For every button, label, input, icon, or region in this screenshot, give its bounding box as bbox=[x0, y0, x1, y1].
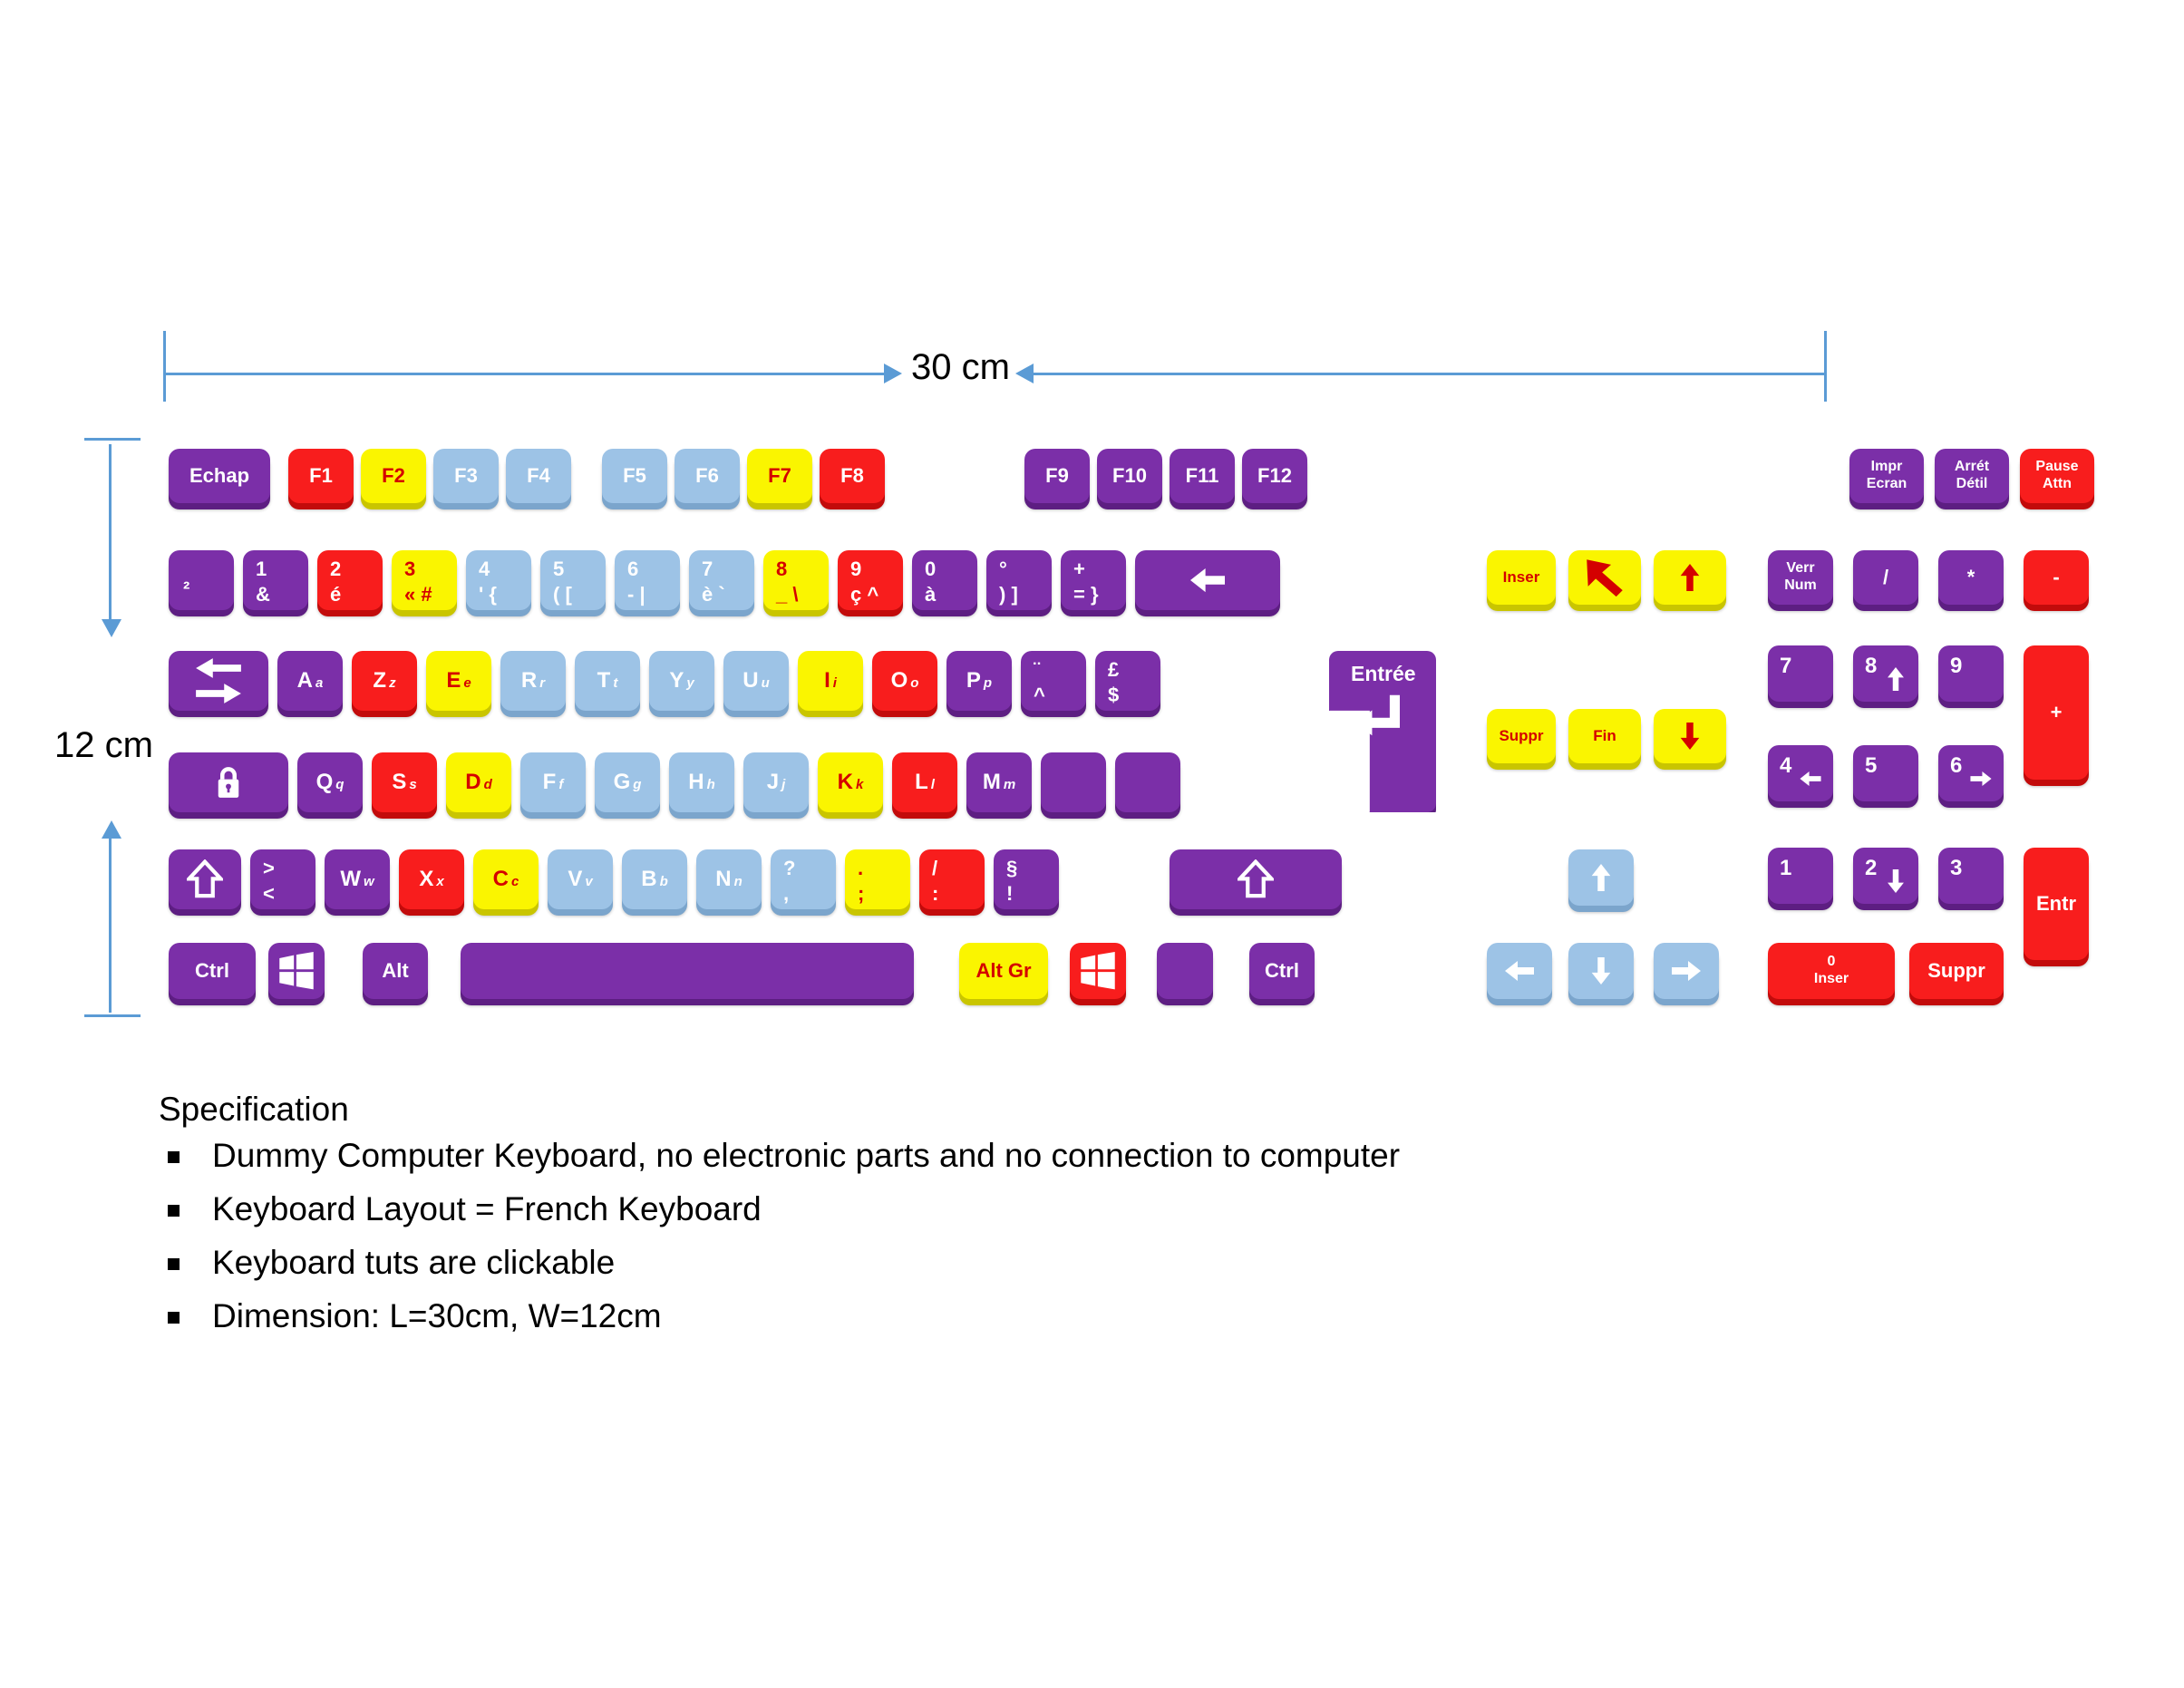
key-numpad-delete[interactable]: Suppr bbox=[1909, 943, 2004, 999]
list-item: Dummy Computer Keyboard, no electronic p… bbox=[159, 1137, 1700, 1175]
key-key-k[interactable]: Kk bbox=[818, 752, 883, 812]
slide-canvas: 30 cm 12 cm EchapF1F2F3F4F5F6F7F8F9F10F1… bbox=[0, 0, 2184, 1688]
key-f5[interactable]: F5 bbox=[602, 449, 667, 503]
key-key-6[interactable]: 6- | bbox=[615, 550, 680, 610]
key-upper-glyph: + bbox=[1073, 558, 1085, 579]
key-key-f[interactable]: Ff bbox=[520, 752, 586, 812]
key-uppercase: Q bbox=[316, 771, 334, 793]
key-numpad-4[interactable]: 4 bbox=[1768, 745, 1833, 801]
list-item: Dimension: L=30cm, W=12cm bbox=[159, 1297, 1700, 1335]
key-left-alt[interactable]: Alt bbox=[363, 943, 428, 999]
key-uppercase: R bbox=[521, 669, 537, 692]
key-uppercase: M bbox=[983, 771, 1001, 793]
key-uppercase: Y bbox=[669, 669, 684, 692]
spec-text: Keyboard Layout = French Keyboard bbox=[212, 1190, 762, 1228]
key-uppercase: K bbox=[838, 771, 853, 793]
arrow-down-icon bbox=[1676, 717, 1704, 755]
key-numpad-7[interactable]: 7 bbox=[1768, 645, 1833, 702]
key-label: F8 bbox=[840, 465, 864, 486]
key-lower-glyph: à bbox=[925, 584, 936, 605]
key-key-r[interactable]: Rr bbox=[500, 651, 566, 711]
key-right-ctrl[interactable]: Ctrl bbox=[1249, 943, 1315, 999]
key-lowercase: k bbox=[856, 778, 863, 792]
key-page-up[interactable] bbox=[1654, 550, 1726, 605]
key-key-percent[interactable] bbox=[1041, 752, 1106, 812]
key-key-2[interactable]: 2é bbox=[317, 550, 383, 610]
key-lower-glyph: « # bbox=[404, 584, 432, 605]
key-label: Ctrl bbox=[1265, 960, 1299, 981]
key-lower-glyph: ( [ bbox=[553, 584, 572, 605]
key-lower-glyph: ^ bbox=[1034, 684, 1045, 705]
key-digit: 6 bbox=[1950, 754, 1962, 777]
key-label-line: Pause bbox=[2035, 460, 2078, 475]
key-label-line: Num bbox=[1784, 578, 1817, 594]
key-lower-glyph: - | bbox=[627, 584, 645, 605]
key-upper-glyph: 7 bbox=[702, 558, 713, 579]
arrow-left-icon bbox=[1170, 563, 1246, 597]
key-digit: 9 bbox=[1950, 655, 1962, 677]
arrow-right-icon bbox=[1969, 763, 1993, 794]
arrow-down-icon bbox=[1587, 952, 1615, 990]
key-right-windows[interactable] bbox=[1070, 943, 1126, 999]
key-print-screen[interactable]: ImprEcran bbox=[1849, 449, 1924, 503]
key-f12[interactable]: F12 bbox=[1242, 449, 1307, 503]
key-key-v[interactable]: Vv bbox=[548, 849, 613, 909]
key-label: F5 bbox=[623, 465, 646, 486]
key-numpad-2[interactable]: 2 bbox=[1853, 848, 1918, 904]
arrow-up-icon bbox=[1676, 558, 1704, 597]
key-lowercase: x bbox=[436, 875, 443, 889]
key-upper-glyph: 9 bbox=[850, 558, 861, 579]
key-upper-glyph: > bbox=[263, 858, 275, 878]
key-numpad-3[interactable]: 3 bbox=[1938, 848, 2004, 904]
key-upper-glyph: 5 bbox=[553, 558, 564, 579]
key-numpad-8[interactable]: 8 bbox=[1853, 645, 1918, 702]
key-numpad-6[interactable]: 6 bbox=[1938, 745, 2004, 801]
key-lower-glyph: , bbox=[783, 883, 789, 904]
key-lowercase: d bbox=[484, 778, 492, 792]
specification-block: Specification Dummy Computer Keyboard, n… bbox=[159, 1091, 1700, 1351]
key-lowercase: n bbox=[734, 875, 743, 889]
key-key-dollar[interactable]: £$ bbox=[1095, 651, 1160, 711]
key-key-b[interactable]: Bb bbox=[622, 849, 687, 909]
key-uppercase: X bbox=[419, 868, 433, 890]
key-backspace[interactable] bbox=[1135, 550, 1280, 610]
key-numpad-enter[interactable]: Entr bbox=[2024, 848, 2089, 960]
key-delete[interactable]: Suppr bbox=[1487, 709, 1556, 763]
key-uppercase: J bbox=[767, 771, 779, 793]
key-insert[interactable]: Inser bbox=[1487, 550, 1556, 605]
key-key-l[interactable]: Ll bbox=[892, 752, 957, 812]
key-key-degree[interactable]: °) ] bbox=[986, 550, 1052, 610]
key-escape[interactable]: Echap bbox=[169, 449, 270, 503]
key-numpad-plus[interactable]: + bbox=[2024, 645, 2089, 780]
key-key-x[interactable]: Xx bbox=[399, 849, 464, 909]
key-key-n[interactable]: Nn bbox=[696, 849, 762, 909]
key-label: F10 bbox=[1112, 465, 1147, 486]
key-f4[interactable]: F4 bbox=[506, 449, 571, 503]
key-label: Fin bbox=[1593, 728, 1616, 744]
key-lower-glyph: _ \ bbox=[776, 584, 798, 605]
key-label-line: Inser bbox=[1814, 972, 1849, 987]
key-uppercase: S bbox=[392, 771, 406, 793]
key-uppercase: N bbox=[715, 868, 731, 890]
key-lowercase: a bbox=[315, 676, 323, 691]
key-label: / bbox=[1883, 567, 1888, 587]
key-uppercase: E bbox=[446, 669, 461, 692]
key-key-h[interactable]: Hh bbox=[669, 752, 734, 812]
key-superscript-two[interactable]: ² bbox=[169, 550, 234, 610]
key-menu[interactable] bbox=[1157, 943, 1213, 999]
key-key-circumflex[interactable]: ¨^ bbox=[1021, 651, 1086, 711]
key-uppercase: C bbox=[493, 868, 509, 890]
key-digit: 8 bbox=[1865, 655, 1877, 677]
key-key-i[interactable]: Ii bbox=[798, 651, 863, 711]
key-lower-glyph: $ bbox=[1108, 684, 1119, 705]
key-upper-glyph: ¨ bbox=[1034, 659, 1040, 680]
key-upper-glyph: 2 bbox=[330, 558, 341, 579]
key-lower-glyph: ; bbox=[858, 883, 864, 904]
key-key-p[interactable]: Pp bbox=[946, 651, 1012, 711]
key-upper-glyph: 8 bbox=[776, 558, 787, 579]
key-num-lock[interactable]: VerrNum bbox=[1768, 550, 1833, 605]
key-digit: 2 bbox=[1865, 857, 1877, 879]
spec-text: Dummy Computer Keyboard, no electronic p… bbox=[212, 1137, 1400, 1175]
key-numpad-minus[interactable]: - bbox=[2024, 550, 2089, 605]
key-key-angle[interactable]: >< bbox=[250, 849, 315, 909]
key-lowercase: b bbox=[660, 875, 668, 889]
key-label: - bbox=[2053, 567, 2059, 587]
key-f6[interactable]: F6 bbox=[675, 449, 740, 503]
bullet-icon bbox=[168, 1258, 180, 1270]
key-lower-glyph: ) ] bbox=[999, 584, 1018, 605]
key-label: Alt Gr bbox=[976, 960, 1031, 981]
key-numpad-divide[interactable]: / bbox=[1853, 550, 1918, 605]
key-lower-glyph: é bbox=[330, 584, 341, 605]
key-f7[interactable]: F7 bbox=[747, 449, 812, 503]
key-label: F12 bbox=[1257, 465, 1292, 486]
specification-list: Dummy Computer Keyboard, no electronic p… bbox=[159, 1137, 1700, 1335]
key-uppercase: I bbox=[824, 669, 830, 692]
arrow-down-icon bbox=[1884, 866, 1907, 897]
key-lower-glyph: = } bbox=[1073, 584, 1099, 605]
key-upper-glyph: § bbox=[1006, 858, 1017, 878]
key-arrow-left[interactable] bbox=[1487, 943, 1552, 999]
key-label: Inser bbox=[1503, 569, 1540, 586]
arrow-right-icon bbox=[1664, 956, 1709, 985]
bullet-icon bbox=[168, 1151, 180, 1163]
key-label: Echap bbox=[189, 465, 249, 486]
key-uppercase: U bbox=[743, 669, 758, 692]
key-uppercase: D bbox=[465, 771, 480, 793]
key-left-windows[interactable] bbox=[268, 943, 325, 999]
key-key-c[interactable]: Cc bbox=[473, 849, 539, 909]
key-lower-glyph: & bbox=[256, 584, 270, 605]
key-lowercase: r bbox=[539, 676, 545, 691]
key-label: Ctrl bbox=[195, 960, 229, 981]
key-label: F7 bbox=[768, 465, 791, 486]
bullet-icon bbox=[168, 1205, 180, 1217]
key-key-8[interactable]: 8_ \ bbox=[763, 550, 829, 610]
key-label-line: Verr bbox=[1786, 561, 1814, 577]
key-lowercase: q bbox=[335, 778, 344, 792]
key-arrow-up[interactable] bbox=[1568, 849, 1634, 906]
key-upper-glyph: 6 bbox=[627, 558, 638, 579]
windows-icon bbox=[1079, 952, 1117, 990]
key-label: F11 bbox=[1186, 465, 1219, 486]
key-uppercase: O bbox=[891, 669, 908, 692]
key-upper-glyph: ? bbox=[783, 858, 795, 878]
enter-label: Entrée bbox=[1351, 662, 1416, 686]
key-label-line: Ecran bbox=[1867, 477, 1907, 492]
key-uppercase: B bbox=[641, 868, 656, 890]
key-key-semicolon[interactable]: .; bbox=[845, 849, 910, 909]
shift-up-icon bbox=[1238, 859, 1274, 899]
key-upper-glyph: . bbox=[858, 858, 863, 878]
key-label: F4 bbox=[527, 465, 550, 486]
key-key-micro[interactable] bbox=[1115, 752, 1180, 812]
list-item: Keyboard tuts are clickable bbox=[159, 1244, 1700, 1282]
key-label: + bbox=[2051, 702, 2063, 723]
key-upper-glyph: £ bbox=[1108, 659, 1119, 680]
key-caps-lock[interactable] bbox=[169, 752, 288, 812]
key-key-7[interactable]: 7è ` bbox=[689, 550, 754, 610]
key-label-line: 0 bbox=[1828, 955, 1836, 970]
key-lowercase: u bbox=[762, 676, 770, 691]
key-f9[interactable]: F9 bbox=[1024, 449, 1090, 503]
key-uppercase: G bbox=[614, 771, 631, 793]
key-upper-glyph: ° bbox=[999, 558, 1007, 579]
key-digit: 1 bbox=[1780, 857, 1791, 879]
arrow-diagonal-icon bbox=[1583, 556, 1626, 599]
key-label: Suppr bbox=[1499, 728, 1543, 744]
key-lower-glyph: ' { bbox=[479, 584, 497, 605]
key-lower-glyph: è ` bbox=[702, 584, 725, 605]
key-lowercase: f bbox=[558, 778, 563, 792]
key-label-line: Arrét bbox=[1955, 460, 1989, 475]
key-uppercase: A bbox=[297, 669, 313, 692]
key-key-1[interactable]: 1& bbox=[243, 550, 308, 610]
key-label: * bbox=[1967, 567, 1975, 587]
key-lowercase: o bbox=[910, 676, 918, 691]
key-uppercase: L bbox=[915, 771, 928, 793]
key-key-o[interactable]: Oo bbox=[872, 651, 937, 711]
key-key-q[interactable]: Qq bbox=[297, 752, 363, 812]
key-f3[interactable]: F3 bbox=[433, 449, 499, 503]
key-uppercase: T bbox=[597, 669, 611, 692]
key-digit: 3 bbox=[1950, 857, 1962, 879]
key-key-5[interactable]: 5( [ bbox=[540, 550, 606, 610]
keyboard[interactable]: EchapF1F2F3F4F5F6F7F8F9F10F11F12ImprEcra… bbox=[0, 0, 2184, 1688]
key-key-9[interactable]: 9ç ^ bbox=[838, 550, 903, 610]
key-lower-glyph: : bbox=[932, 883, 938, 904]
enter-arrow-icon bbox=[1349, 693, 1405, 738]
key-digit: 5 bbox=[1865, 754, 1877, 777]
key-key-3[interactable]: 3« # bbox=[392, 550, 457, 610]
key-lowercase: i bbox=[833, 676, 837, 691]
key-lower-glyph: ç ^ bbox=[850, 584, 878, 605]
key-key-exclaim[interactable]: §! bbox=[994, 849, 1059, 909]
key-lowercase: l bbox=[931, 778, 935, 792]
key-key-z[interactable]: Zz bbox=[352, 651, 417, 711]
shift-up-icon bbox=[187, 859, 223, 899]
bullet-icon bbox=[168, 1312, 180, 1324]
key-key-4[interactable]: 4' { bbox=[466, 550, 531, 610]
key-label-line: Impr bbox=[1871, 460, 1903, 475]
key-left-ctrl[interactable]: Ctrl bbox=[169, 943, 256, 999]
key-key-u[interactable]: Uu bbox=[723, 651, 789, 711]
key-label-line: Détil bbox=[1956, 477, 1988, 492]
key-uppercase: W bbox=[340, 868, 361, 890]
key-key-w[interactable]: Ww bbox=[325, 849, 390, 909]
arrow-up-icon bbox=[1884, 664, 1907, 694]
key-key-j[interactable]: Jj bbox=[743, 752, 809, 812]
key-left-shift[interactable] bbox=[169, 849, 241, 909]
key-label: F3 bbox=[454, 465, 478, 486]
key-numpad-multiply[interactable]: * bbox=[1938, 550, 2004, 605]
spec-text: Dimension: L=30cm, W=12cm bbox=[212, 1297, 662, 1335]
arrow-left-icon bbox=[1497, 956, 1542, 985]
key-upper-glyph: / bbox=[932, 858, 937, 878]
key-lower-glyph: ! bbox=[1006, 883, 1013, 904]
key-numpad-5[interactable]: 5 bbox=[1853, 745, 1918, 801]
key-key-a[interactable]: Aa bbox=[277, 651, 343, 711]
key-lowercase: z bbox=[389, 676, 396, 691]
key-key-y[interactable]: Yy bbox=[649, 651, 714, 711]
key-label: F2 bbox=[382, 465, 405, 486]
key-f10[interactable]: F10 bbox=[1097, 449, 1162, 503]
spec-text: Keyboard tuts are clickable bbox=[212, 1244, 615, 1282]
key-digit: 7 bbox=[1780, 655, 1791, 677]
key-numpad-1[interactable]: 1 bbox=[1768, 848, 1833, 904]
key-upper-glyph: 3 bbox=[404, 558, 415, 579]
key-key-colon[interactable]: /: bbox=[919, 849, 985, 909]
key-label: F6 bbox=[695, 465, 719, 486]
key-key-s[interactable]: Ss bbox=[372, 752, 437, 812]
key-key-g[interactable]: Gg bbox=[595, 752, 660, 812]
key-upper-glyph: 1 bbox=[256, 558, 267, 579]
key-key-plus[interactable]: += } bbox=[1061, 550, 1126, 610]
key-uppercase: H bbox=[688, 771, 704, 793]
tab-arrows-icon bbox=[190, 655, 247, 706]
key-numpad-9[interactable]: 9 bbox=[1938, 645, 2004, 702]
key-lowercase: w bbox=[364, 875, 374, 889]
key-label: ² bbox=[183, 578, 189, 599]
key-right-shift[interactable] bbox=[1170, 849, 1342, 909]
key-digit: 4 bbox=[1780, 754, 1791, 777]
key-alt-gr[interactable]: Alt Gr bbox=[959, 943, 1048, 999]
key-key-0[interactable]: 0à bbox=[912, 550, 977, 610]
key-lowercase: e bbox=[463, 676, 471, 691]
key-space[interactable] bbox=[461, 943, 914, 999]
key-home[interactable] bbox=[1568, 550, 1641, 605]
key-f2[interactable]: F2 bbox=[361, 449, 426, 503]
key-lowercase: h bbox=[707, 778, 715, 792]
key-label: Alt bbox=[382, 960, 408, 981]
key-key-d[interactable]: Dd bbox=[446, 752, 511, 812]
arrow-up-icon bbox=[1587, 859, 1615, 897]
key-lowercase: j bbox=[781, 778, 785, 792]
key-arrow-right[interactable] bbox=[1654, 943, 1719, 999]
key-lowercase: y bbox=[686, 676, 694, 691]
key-upper-glyph: 4 bbox=[479, 558, 490, 579]
key-uppercase: V bbox=[568, 868, 582, 890]
key-uppercase: Z bbox=[373, 669, 386, 692]
key-pause[interactable]: PauseAttn bbox=[2020, 449, 2094, 503]
lock-icon bbox=[212, 764, 245, 800]
key-key-m[interactable]: Mm bbox=[966, 752, 1032, 812]
key-end[interactable]: Fin bbox=[1568, 709, 1641, 763]
key-lower-glyph: < bbox=[263, 883, 275, 904]
key-label: Suppr bbox=[1927, 960, 1985, 981]
key-f8[interactable]: F8 bbox=[820, 449, 885, 503]
key-lowercase: c bbox=[511, 875, 519, 889]
key-key-t[interactable]: Tt bbox=[575, 651, 640, 711]
key-arrow-down[interactable] bbox=[1568, 943, 1634, 999]
windows-icon bbox=[277, 952, 315, 990]
key-tab[interactable] bbox=[169, 651, 268, 711]
key-numpad-0[interactable]: 0Inser bbox=[1768, 943, 1895, 999]
list-item: Keyboard Layout = French Keyboard bbox=[159, 1190, 1700, 1228]
key-label: F9 bbox=[1045, 465, 1069, 486]
key-label: Entr bbox=[2036, 893, 2076, 914]
key-lowercase: v bbox=[585, 875, 592, 889]
key-lowercase: p bbox=[984, 676, 992, 691]
key-uppercase: F bbox=[543, 771, 557, 793]
key-f11[interactable]: F11 bbox=[1170, 449, 1235, 503]
key-scroll-lock[interactable]: ArrétDétil bbox=[1935, 449, 2009, 503]
key-lowercase: g bbox=[633, 778, 641, 792]
key-key-comma[interactable]: ?, bbox=[771, 849, 836, 909]
key-page-down[interactable] bbox=[1654, 709, 1726, 763]
key-uppercase: P bbox=[966, 669, 981, 692]
key-upper-glyph: 0 bbox=[925, 558, 936, 579]
key-lowercase: s bbox=[409, 778, 416, 792]
key-f1[interactable]: F1 bbox=[288, 449, 354, 503]
key-key-e[interactable]: Ee bbox=[426, 651, 491, 711]
key-label: F1 bbox=[309, 465, 333, 486]
key-lowercase: m bbox=[1004, 778, 1015, 792]
key-lowercase: t bbox=[613, 676, 617, 691]
key-label-line: Attn bbox=[2043, 477, 2072, 492]
arrow-left-icon bbox=[1799, 763, 1822, 794]
specification-title: Specification bbox=[159, 1091, 1700, 1129]
